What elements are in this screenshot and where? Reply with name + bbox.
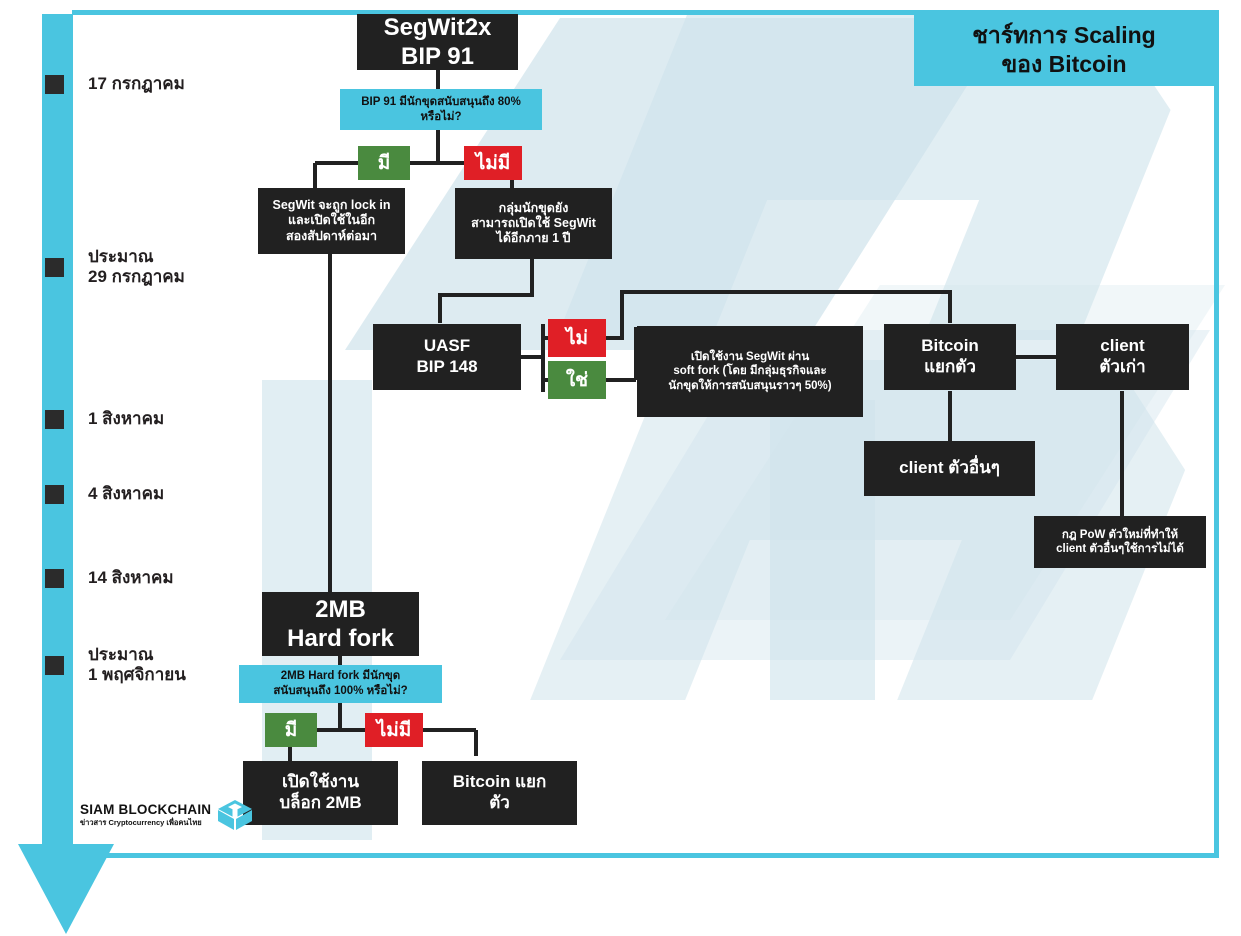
page-title-line-1: ชาร์ทการ Scaling [972,21,1155,50]
timeline-bar [42,14,73,846]
logo-text-block: SIAM BLOCKCHAIN ข่าวสาร Cryptocurrency เ… [80,803,211,827]
flow-connectors [0,0,1241,936]
timeline-item-4: 4 สิงหาคม [45,484,164,504]
question-2mb-hardfork-support: 2MB Hard fork มีนักขุด สนับสนุนถึง 100% … [239,665,442,703]
timeline-item-2-label: ประมาณ 29 กรกฎาคม [88,247,185,287]
cube-icon [216,798,254,832]
node-segwit2x-bip91: SegWit2x BIP 91 [357,14,518,70]
chip-no-bip91: ไม่มี [464,146,522,180]
square-marker-icon [45,410,64,429]
background-bitcoin-b-artwork [0,0,1241,936]
timeline-item-4-label: 4 สิงหาคม [88,484,164,504]
node-segwit-soft-fork: เปิดใช้งาน SegWit ผ่าน soft fork (โดย มี… [637,326,863,417]
timeline-item-5: 14 สิงหาคม [45,568,174,588]
square-marker-icon [45,485,64,504]
node-uasf-bip148: UASF BIP 148 [373,324,521,390]
square-marker-icon [45,656,64,675]
frame-right-border [1214,10,1219,858]
chip-yes-bip91: มี [358,146,410,180]
timeline-item-1-label: 17 กรกฎาคม [88,74,185,94]
page-title: ชาร์ทการ Scaling ของ Bitcoin [914,13,1214,86]
node-enable-2mb-block: เปิดใช้งาน บล็อก 2MB [243,761,398,825]
node-bitcoin-split-top: Bitcoin แยกตัว [884,324,1016,390]
timeline-item-5-label: 14 สิงหาคม [88,568,174,588]
frame-bottom-border [72,853,1219,858]
timeline-item-3-label: 1 สิงหาคม [88,409,164,429]
question-bip91-support: BIP 91 มีนักขุดสนับสนุนถึง 80% หรือไม่? [340,89,542,130]
down-arrow-icon [14,844,118,936]
page-title-line-2: ของ Bitcoin [1001,50,1126,79]
timeline-item-6-label: ประมาณ 1 พฤศจิกายน [88,645,186,685]
square-marker-icon [45,569,64,588]
logo-tagline: ข่าวสาร Cryptocurrency เพื่อคนไทย [80,819,211,827]
node-client-old: client ตัวเก่า [1056,324,1189,390]
node-client-others: client ตัวอื่นๆ [864,441,1035,496]
chip-no-2mb: ไม่มี [365,713,423,747]
node-miners-enable-segwit-1year: กลุ่มนักขุดยัง สามารถเปิดใช้ SegWit ได้อ… [455,188,612,259]
node-segwit-lockin: SegWit จะถูก lock in และเปิดใช้ในอีก สอง… [258,188,405,254]
timeline-item-2: ประมาณ 29 กรกฎาคม [45,247,185,287]
square-marker-icon [45,258,64,277]
square-marker-icon [45,75,64,94]
node-bitcoin-split-bottom: Bitcoin แยก ตัว [422,761,577,825]
infographic-canvas: 17 กรกฎาคม ประมาณ 29 กรกฎาคม 1 สิงหาคม 4… [0,0,1241,936]
logo-name: SIAM BLOCKCHAIN [80,803,211,818]
siam-blockchain-logo: SIAM BLOCKCHAIN ข่าวสาร Cryptocurrency เ… [80,798,254,832]
chip-no-uasf: ไม่ [548,319,606,357]
timeline-item-1: 17 กรกฎาคม [45,74,185,94]
node-new-pow-rule: กฎ PoW ตัวใหม่ที่ทำให้ client ตัวอื่นๆใช… [1034,516,1206,568]
chip-yes-2mb: มี [265,713,317,747]
chip-yes-uasf: ใช่ [548,361,606,399]
timeline-item-3: 1 สิงหาคม [45,409,164,429]
timeline-item-6: ประมาณ 1 พฤศจิกายน [45,645,186,685]
node-2mb-hard-fork: 2MB Hard fork [262,592,419,656]
